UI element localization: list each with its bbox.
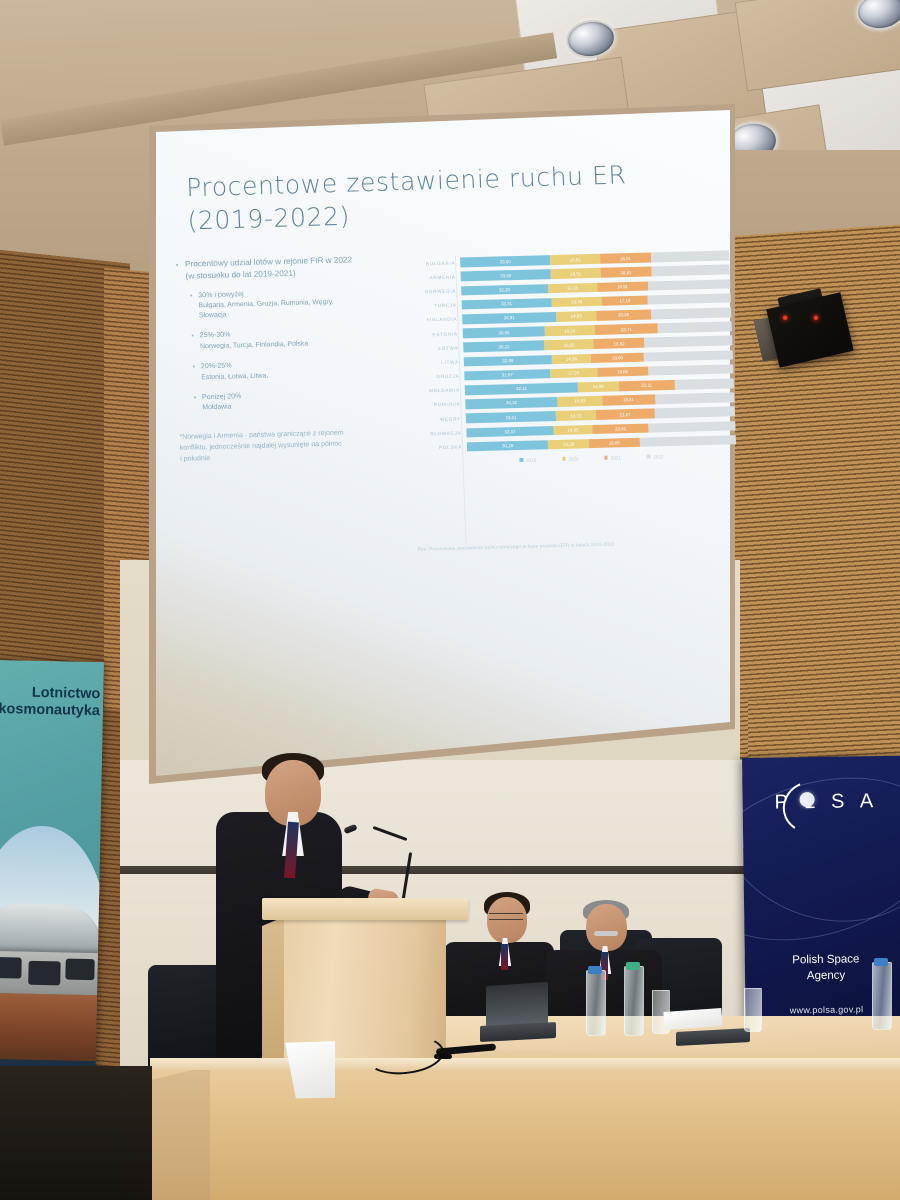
chart-category-label: ŁOTWA — [402, 345, 463, 352]
bottle-cap — [626, 962, 640, 970]
water-bottle[interactable] — [586, 970, 606, 1036]
chart-segment-2022 — [648, 279, 731, 291]
chart-rows: BUŁGARIA33,5018,5118,91ARMENIA33,5018,51… — [399, 248, 736, 455]
photo-helicopter — [0, 957, 21, 979]
panelist-head — [487, 897, 527, 943]
slide-bullet-list: Procentowy udział lotów w rejonie FIR w … — [175, 254, 361, 423]
chart-segment-2022 — [648, 364, 734, 376]
legend-item-2021: 2021 — [604, 455, 621, 460]
legend-label: 2022 — [653, 454, 663, 459]
chart-segment-2020: 18,28 — [548, 283, 598, 294]
chart-segment-2021: 23,71 — [594, 324, 658, 335]
conference-hall-photo: Procentowe zestawienie ruchu ER (2019-20… — [0, 0, 900, 1200]
chart-category-label: LITWA — [403, 359, 464, 366]
legend-item-2020: 2020 — [562, 456, 579, 461]
stacked-bar-chart: BUŁGARIA33,5018,5118,91ARMENIA33,5018,51… — [399, 248, 740, 556]
chart-segment-2021: 21,11 — [618, 380, 675, 391]
chart-segment-2022 — [675, 378, 734, 389]
polsa-planet-icon — [799, 792, 814, 807]
chart-segment-2019: 31,97 — [464, 369, 550, 381]
chart-segment-2020: 18,76 — [551, 297, 602, 308]
chart-category-label: BUŁGARIA — [399, 260, 460, 267]
chart-segment-2020: 14,93 — [556, 311, 596, 322]
chart-segment-2019: 32,20 — [461, 284, 548, 296]
laptop-lid[interactable] — [486, 982, 548, 1028]
chart-segment-2019: 34,91 — [462, 312, 556, 324]
dais-front — [150, 1070, 900, 1200]
legend-swatch-icon — [520, 458, 524, 461]
bottle-cap — [588, 966, 602, 974]
bullet-group-countries: Bułgaria, Armenia, Gruzja, Rumunia, Węgr… — [198, 297, 357, 321]
chart-segment-2020: 18,51 — [550, 254, 600, 265]
chart-segment-2022 — [658, 322, 732, 334]
chart-segment-2021: 20,81 — [592, 423, 648, 434]
chart-segment-2019: 34,32 — [465, 397, 558, 409]
chart-segment-2022 — [644, 336, 732, 348]
chart-category-label: MOŁDAWIA — [404, 388, 465, 395]
chart-segment-2020: 14,58 — [552, 354, 592, 365]
chart-segment-2020: 18,25 — [544, 339, 593, 350]
chart-segment-2019: 33,51 — [466, 411, 556, 423]
legend-label: 2020 — [568, 456, 578, 461]
banner-left-title-line1: Lotnictwo — [0, 684, 100, 703]
chart-segment-2019: 33,50 — [460, 255, 550, 267]
podium-side — [262, 916, 286, 1064]
legend-swatch-icon — [604, 456, 608, 459]
floor-shadow — [0, 1066, 152, 1200]
slide-footnote: *Norwegia i Armenia - państwa graniczące… — [179, 429, 345, 466]
chart-category-label: SŁOWACJA — [405, 430, 466, 437]
slide-title: Procentowe zestawienie ruchu ER (2019-20… — [186, 157, 658, 237]
chart-segment-2020: 16,53 — [558, 396, 603, 407]
chart-segment-2020: 14,72 — [556, 410, 596, 421]
chart-segment-2021: 19,61 — [602, 395, 655, 406]
chart-segment-2020: 18,51 — [551, 268, 601, 279]
photo-mars-surface — [0, 993, 104, 1062]
chart-segment-2020: 14,55 — [553, 425, 592, 436]
water-bottle[interactable] — [624, 966, 644, 1036]
chart-caption: Rys. Procentowe zestawienie ruchu lotnic… — [418, 538, 748, 552]
chart-segment-2022 — [651, 307, 732, 319]
chart-segment-2020: 17,29 — [550, 368, 597, 379]
legend-item-2022: 2022 — [647, 454, 664, 459]
chart-segment-2021: 18,92 — [594, 338, 645, 349]
chart-category-label: ARMENIA — [400, 274, 461, 281]
chart-category-label: NORWEGIA — [400, 288, 461, 295]
moustache-icon — [594, 931, 618, 936]
dais-left-side — [150, 1066, 210, 1200]
eyeglasses-icon — [489, 913, 523, 920]
chart-segment-2022 — [648, 421, 735, 433]
podium-top — [262, 898, 468, 920]
chart-segment-2019: 30,59 — [463, 326, 546, 338]
photo-helicopter — [29, 961, 61, 986]
panelist-tie — [501, 944, 508, 970]
banner-left-title: Lotnictwo kosmonautyka — [0, 684, 104, 720]
chart-segment-2019: 30,18 — [467, 440, 549, 452]
legend-swatch-icon — [562, 457, 566, 460]
chart-segment-2019: 30,22 — [463, 341, 545, 353]
legend-label: 2021 — [611, 455, 621, 460]
chart-segment-2021: 18,91 — [600, 253, 651, 264]
chart-segment-2022 — [644, 350, 733, 362]
chart-segment-2021: 18,66 — [589, 438, 640, 449]
chart-category-label: ESTONIA — [402, 331, 463, 338]
chart-segment-2019: 32,37 — [466, 426, 553, 438]
legend-item-2019: 2019 — [520, 457, 537, 462]
chart-segment-2019: 33,31 — [462, 298, 552, 310]
chart-segment-2019: 33,50 — [461, 270, 551, 282]
chart-category-label: TURCJA — [401, 303, 462, 310]
chart-segment-2020: 15,28 — [548, 439, 589, 450]
photo-helicopter — [66, 959, 95, 981]
legend-swatch-icon — [647, 455, 651, 458]
drinking-glass[interactable] — [744, 988, 762, 1032]
chart-segment-2021: 18,91 — [600, 267, 651, 278]
chart-category-label: RUMUNIA — [404, 402, 465, 409]
chart-segment-2021: 18,91 — [597, 281, 648, 292]
dais-top-surface — [150, 1058, 900, 1070]
water-bottle[interactable] — [872, 962, 892, 1030]
chart-category-label: POLSKA — [406, 444, 467, 451]
chart-segment-2019: 32,69 — [464, 355, 552, 367]
camera-led-icon — [813, 315, 819, 321]
chart-segment-2022 — [654, 407, 735, 419]
chart-segment-2021: 20,28 — [596, 310, 651, 321]
chart-segment-2021: 21,87 — [595, 409, 654, 420]
chart-segment-2022 — [648, 293, 731, 305]
chart-segment-2021: 19,69 — [591, 352, 644, 363]
camera-led-icon — [782, 315, 788, 321]
chart-segment-2022 — [639, 435, 736, 447]
chart-category-label: WĘGRY — [405, 416, 466, 423]
chart-segment-2021: 19,06 — [597, 366, 649, 377]
chart-segment-2022 — [651, 251, 730, 263]
legend-label: 2019 — [526, 457, 536, 462]
chart-segment-2022 — [655, 392, 735, 404]
chart-segment-2020: 18,34 — [545, 325, 595, 336]
chart-segment-2022 — [651, 265, 730, 277]
chart-category-label: GRUZJA — [403, 373, 464, 380]
chart-category-label: FINLANDIA — [401, 317, 462, 324]
chart-segment-2020: 14,96 — [578, 381, 619, 392]
cable-connector — [434, 1054, 452, 1059]
banner-left-title-line2: kosmonautyka — [0, 701, 100, 720]
polsa-wordmark: P L S A — [762, 790, 890, 815]
bullet-lead: Procentowy udział lotów w rejonie FIR w … — [185, 254, 356, 283]
panelist-head — [586, 904, 627, 951]
chart-segment-2019: 42,11 — [465, 382, 579, 395]
bottle-cap — [874, 958, 888, 966]
presentation-slide: Procentowe zestawienie ruchu ER (2019-20… — [120, 104, 735, 784]
chart-segment-2021: 17,19 — [602, 295, 649, 306]
